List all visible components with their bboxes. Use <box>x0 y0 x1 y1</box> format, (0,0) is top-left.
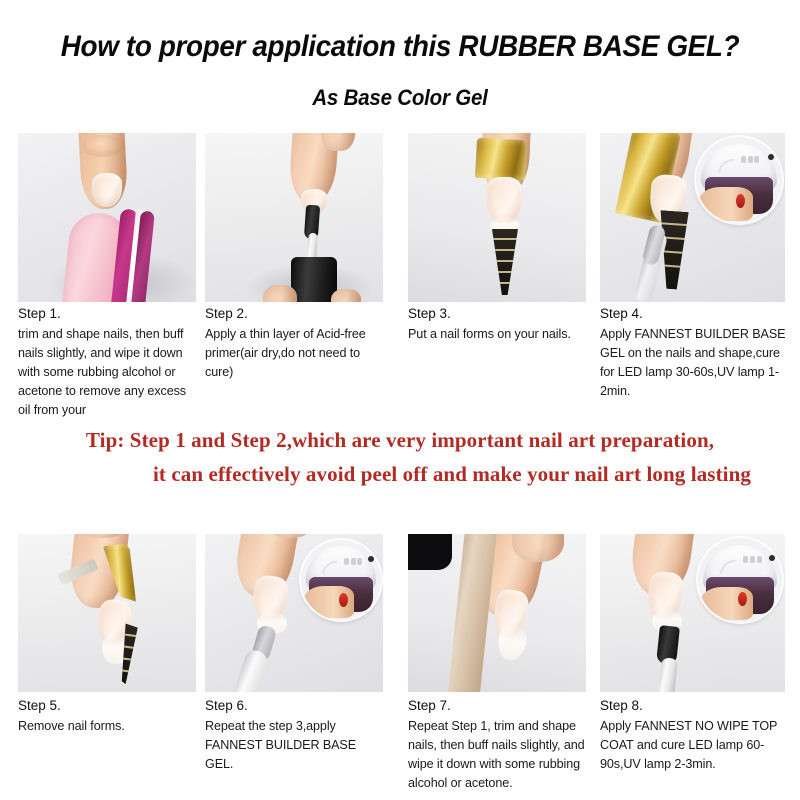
dark-background-corner <box>408 534 452 570</box>
photo-scene-nail-form <box>408 133 586 302</box>
primer-bottle <box>291 257 337 302</box>
step-photo-2 <box>205 133 383 302</box>
uv-lamp-inset <box>698 538 782 622</box>
step-photo-3 <box>408 133 586 302</box>
step-caption-5: Step 5. Remove nail forms. <box>18 697 198 736</box>
step-caption-3: Step 3. Put a nail forms on your nails. <box>408 305 596 344</box>
step-title: Step 6. <box>205 697 387 714</box>
page-title: How to proper application this RUBBER BA… <box>28 30 772 64</box>
step-title: Step 1. <box>18 305 198 322</box>
lamp-button <box>768 154 774 160</box>
lamp-button <box>769 555 775 561</box>
step-photo-8 <box>600 534 785 692</box>
photo-scene-builder-gel <box>600 133 785 302</box>
step-body: Apply FANNEST NO WIPE TOP COAT and cure … <box>600 717 790 774</box>
holding-finger <box>263 285 297 302</box>
photo-scene-buffing <box>408 534 586 692</box>
uv-lamp-inset <box>301 540 381 620</box>
step-body: Apply a thin layer of Acid-free primer(a… <box>205 325 385 382</box>
page-subtitle: As Base Color Gel <box>28 85 772 111</box>
step-body: trim and shape nails, then buff nails sl… <box>18 325 198 420</box>
step-caption-7: Step 7. Repeat Step 1, trim and shape na… <box>408 697 596 793</box>
step-body: Put a nail forms on your nails. <box>408 325 596 344</box>
step-title: Step 7. <box>408 697 596 714</box>
step-caption-2: Step 2. Apply a thin layer of Acid-free … <box>205 305 385 382</box>
nail-extension <box>495 624 528 662</box>
red-nail <box>736 194 745 208</box>
nail-buffer-file <box>447 534 497 692</box>
step-title: Step 5. <box>18 697 198 714</box>
photo-scene-top-coat <box>600 534 785 692</box>
tip-line-2: it can effectively avoid peel off and ma… <box>0 462 800 487</box>
step-title: Step 2. <box>205 305 385 322</box>
gel-brush <box>231 648 269 692</box>
step-body: Repeat Step 1, trim and shape nails, the… <box>408 717 596 793</box>
step-photo-1 <box>18 133 196 302</box>
step-photo-6 <box>205 534 383 692</box>
photo-scene-file <box>18 133 196 302</box>
step-title: Step 4. <box>600 305 790 322</box>
step-photo-5 <box>18 534 196 692</box>
infographic-page: How to proper application this RUBBER BA… <box>0 0 800 800</box>
uv-lamp-inset <box>696 137 782 223</box>
step-title: Step 3. <box>408 305 596 322</box>
photo-scene-second-coat <box>205 534 383 692</box>
step-photo-4 <box>600 133 785 302</box>
step-caption-4: Step 4. Apply FANNEST BUILDER BASE GEL o… <box>600 305 790 401</box>
form-guidelines <box>492 229 518 295</box>
knuckles <box>512 534 564 562</box>
photo-scene-remove-form <box>18 534 196 692</box>
step-caption-8: Step 8. Apply FANNEST NO WIPE TOP COAT a… <box>600 697 790 774</box>
photo-scene-primer <box>205 133 383 302</box>
knuckle <box>82 135 124 157</box>
top-coat-brush-handle <box>658 657 678 692</box>
step-title: Step 8. <box>600 697 790 714</box>
step-caption-1: Step 1. trim and shape nails, then buff … <box>18 305 198 420</box>
step-body: Apply FANNEST BUILDER BASE GEL on the na… <box>600 325 790 401</box>
step-body: Repeat the step 3,apply FANNEST BUILDER … <box>205 717 387 774</box>
hand-in-lamp <box>699 187 752 221</box>
holding-thumb <box>331 289 361 302</box>
step-caption-6: Step 6. Repeat the step 3,apply FANNEST … <box>205 697 387 774</box>
step-photo-7 <box>408 534 586 692</box>
gold-nail-form-wrap <box>475 138 527 181</box>
tip-line-1: Tip: Step 1 and Step 2,which are very im… <box>0 428 800 453</box>
nail-form-extension <box>492 229 518 295</box>
lamp-button <box>368 556 374 562</box>
step-body: Remove nail forms. <box>18 717 198 736</box>
